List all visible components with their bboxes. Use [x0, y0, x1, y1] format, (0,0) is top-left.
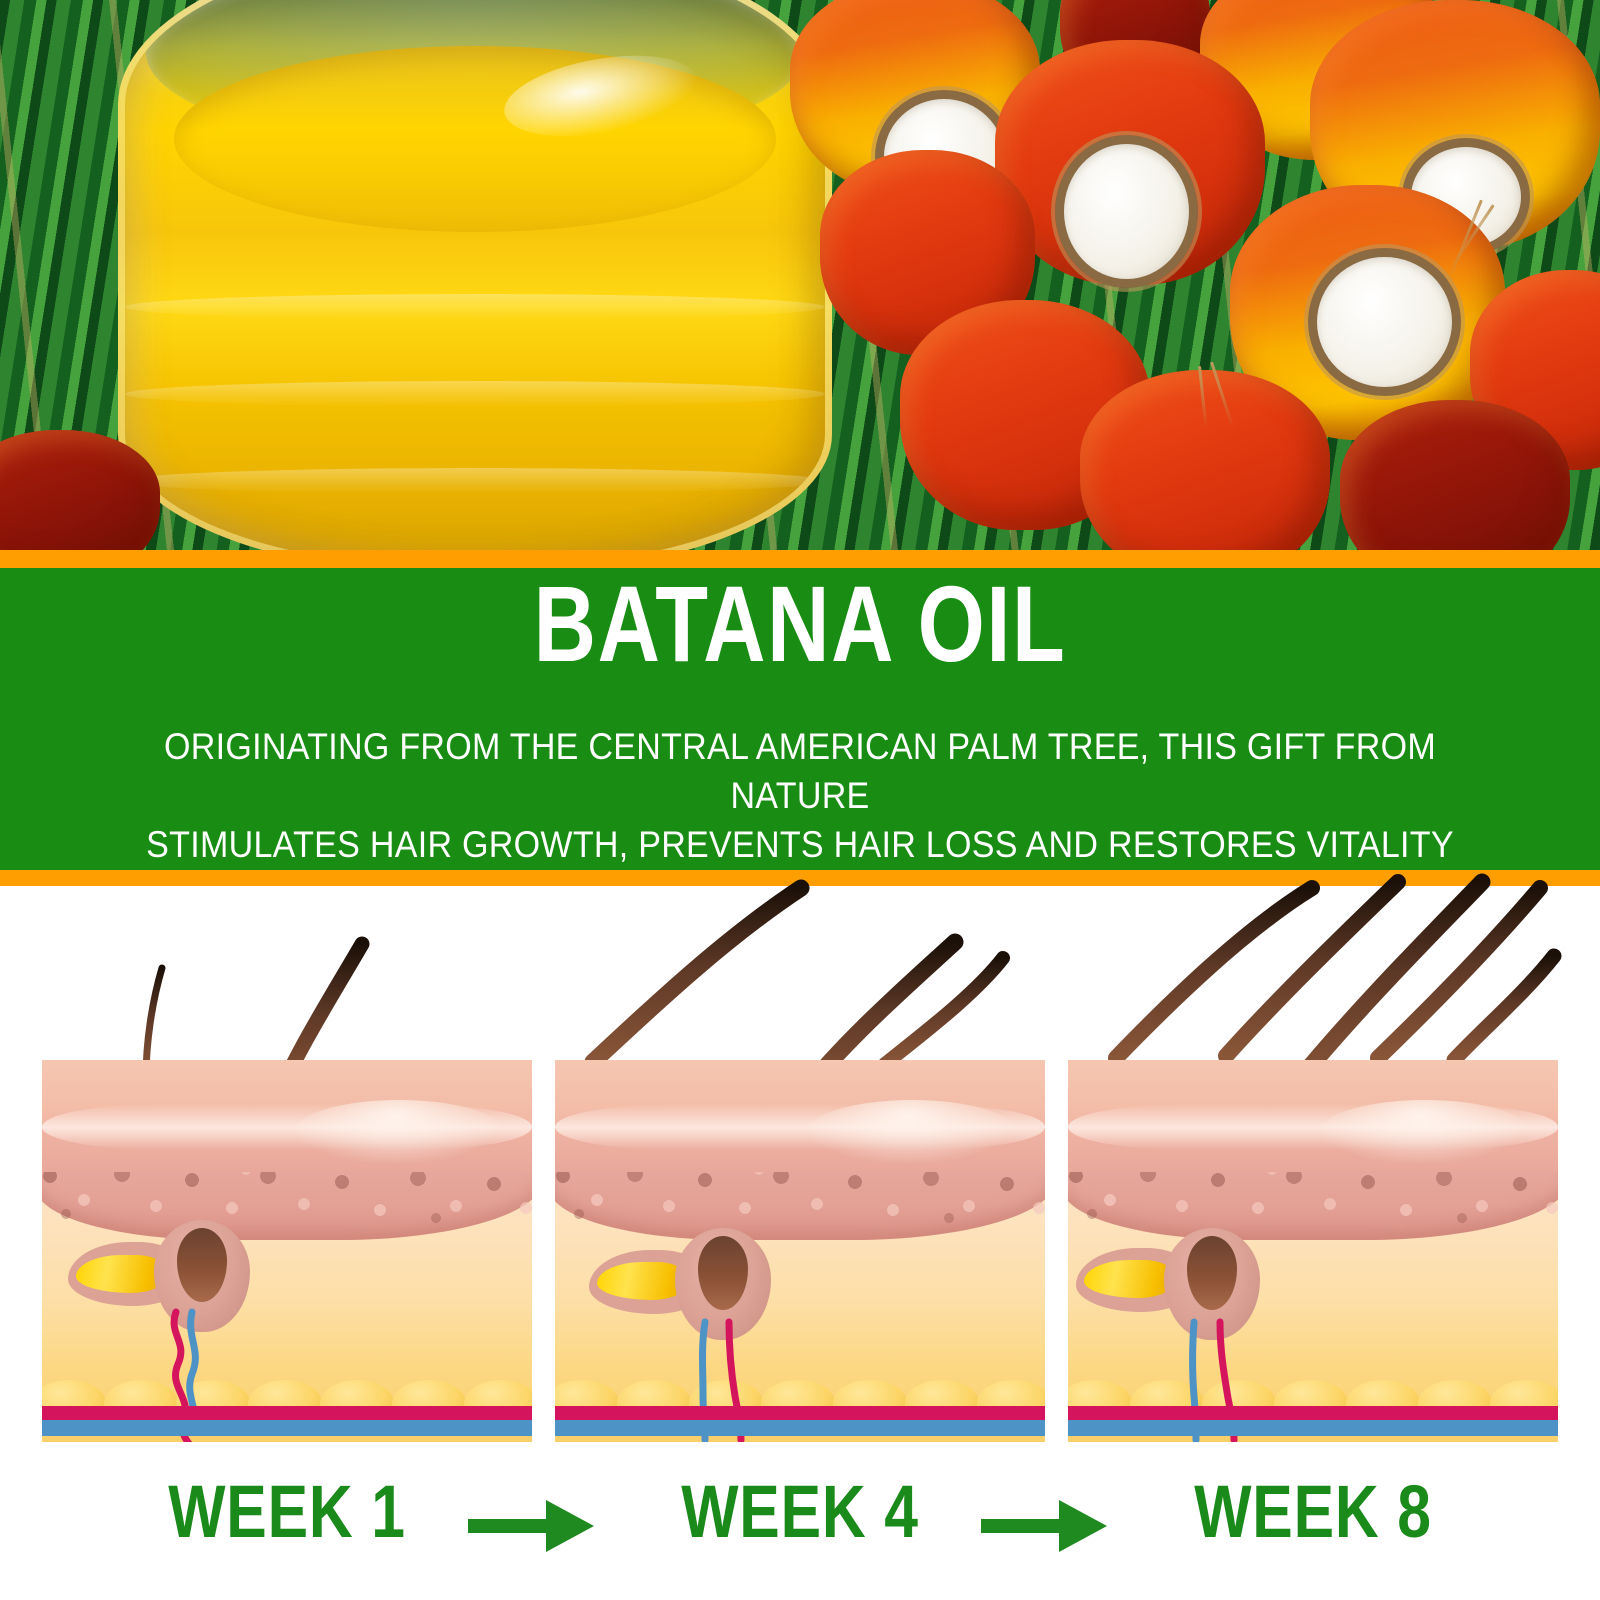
oil-wave [125, 468, 825, 494]
week-label-1: WEEK 1 [152, 1468, 423, 1556]
hair-follicle-week-8 [1068, 1060, 1558, 1442]
palm-fruit-pile [780, 0, 1600, 550]
hair-shaft [885, 958, 1003, 1064]
vein [555, 1420, 1045, 1436]
week-label-2: WEEK 4 [665, 1468, 936, 1556]
oil-bowl [118, 0, 832, 550]
hair-shaft [1116, 888, 1312, 1058]
vein [42, 1420, 532, 1436]
week-label-3: WEEK 8 [1178, 1468, 1449, 1556]
hair-follicle-week-4 [555, 1060, 1045, 1442]
hero-photo [0, 0, 1600, 550]
skin-layers [42, 1060, 532, 1442]
skin-cross-section-week-4 [555, 1060, 1045, 1442]
skin-cross-section-week-1 [42, 1060, 532, 1442]
title-banner: BATANA OIL ORIGINATING FROM THE CENTRAL … [0, 568, 1600, 870]
arrow-right-icon [981, 1498, 1107, 1554]
sebum-oil [1084, 1260, 1176, 1298]
palm-fruit [1080, 370, 1330, 550]
page-title: BATANA OIL [160, 570, 1440, 678]
hair-shaft [593, 888, 801, 1062]
batana-oil-infographic: BATANA OIL ORIGINATING FROM THE CENTRAL … [0, 0, 1600, 1600]
timeline-footer: WEEK 1 WEEK 4 WEEK 8 [0, 1468, 1600, 1564]
oil-wave [125, 294, 825, 320]
palm-fruit-kernel [1308, 248, 1461, 396]
vein [1068, 1420, 1558, 1436]
palm-fruit [1340, 400, 1570, 550]
skin-cross-section-week-8 [1068, 1060, 1558, 1442]
skin-layers [1068, 1060, 1558, 1442]
skin-layers [555, 1060, 1045, 1442]
hair-shaft [1226, 882, 1398, 1056]
arrow-right-icon [468, 1498, 594, 1554]
hair-follicle-week-1 [42, 1060, 532, 1442]
palm-fruit-kernel [1055, 135, 1198, 288]
subtitle-line-1: ORIGINATING FROM THE CENTRAL AMERICAN PA… [138, 722, 1463, 820]
oil-wave [125, 381, 825, 407]
